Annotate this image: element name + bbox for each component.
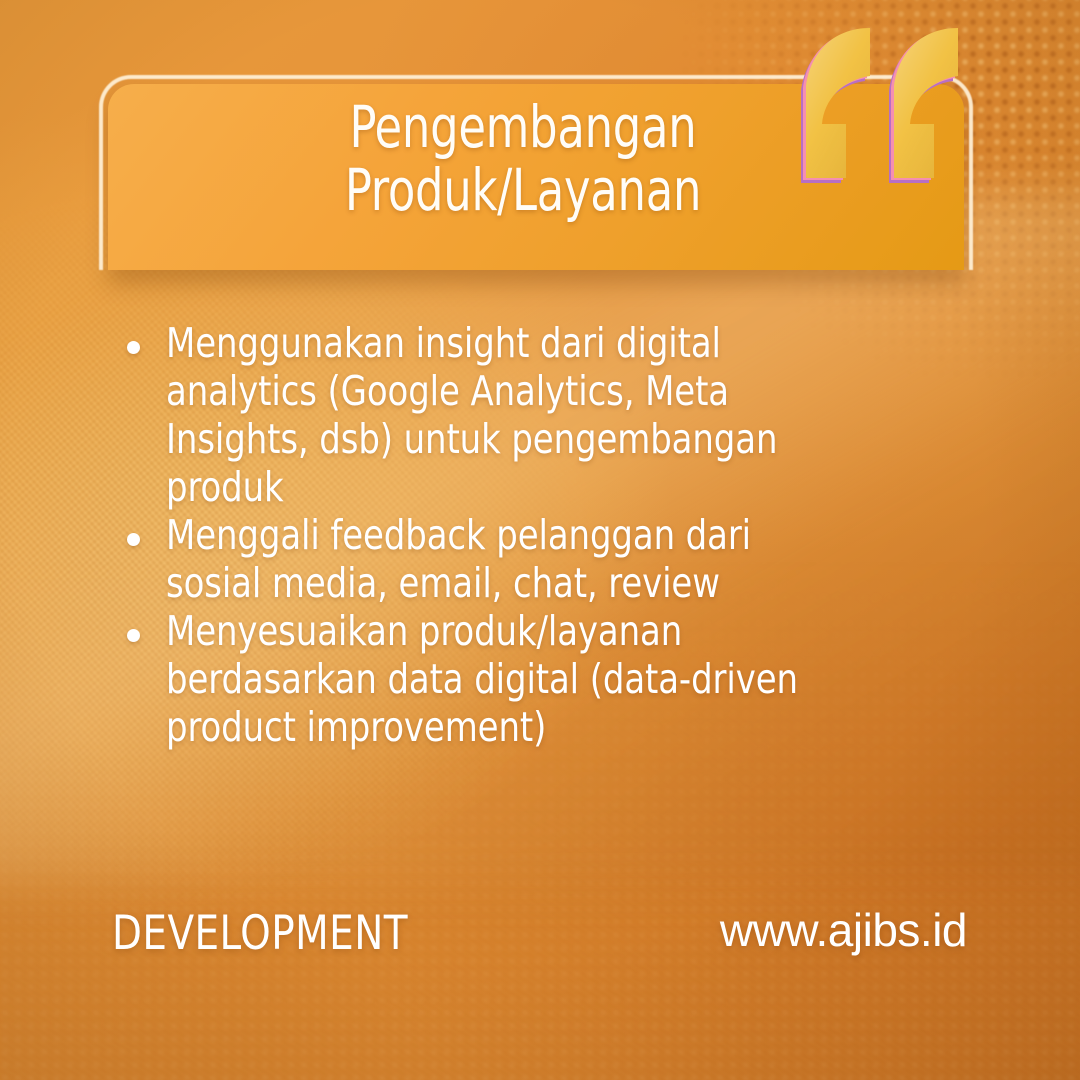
list-item: Menyesuaikan produk/layanan berdasarkan … xyxy=(118,608,908,752)
page-title-line-2: Produk/Layanan xyxy=(166,159,880,222)
list-item: Menggunakan insight dari digital analyti… xyxy=(118,320,908,512)
bullet-list: Menggunakan insight dari digital analyti… xyxy=(118,320,908,752)
list-item-text: Menyesuaikan produk/layanan berdasarkan … xyxy=(166,608,849,752)
page-title-line-1: Pengembangan xyxy=(166,96,880,159)
page-title: Pengembangan Produk/Layanan xyxy=(166,96,880,222)
footer-website-url[interactable]: www.ajibs.id xyxy=(720,903,967,957)
title-card: Pengembangan Produk/Layanan xyxy=(108,84,964,270)
footer-category-label: DEVELOPMENT xyxy=(112,906,408,961)
list-item-text: Menggali feedback pelanggan dari sosial … xyxy=(166,512,849,608)
list-item-text: Menggunakan insight dari digital analyti… xyxy=(166,320,849,512)
list-item: Menggali feedback pelanggan dari sosial … xyxy=(118,512,908,608)
